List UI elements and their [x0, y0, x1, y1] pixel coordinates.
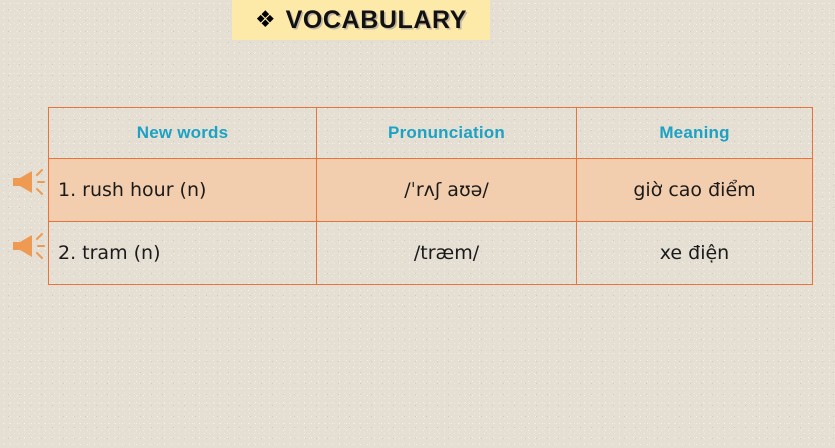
table-row[interactable]: 1. rush hour (n) /ˈrʌʃ aʊə/ giờ cao điểm: [49, 159, 813, 222]
column-header-pronunciation: Pronunciation: [317, 108, 577, 159]
column-header-meaning: Meaning: [577, 108, 813, 159]
cell-new-word: 2. tram (n): [49, 222, 317, 285]
column-header-label: Meaning: [659, 123, 729, 142]
speaker-icon-row-1[interactable]: [10, 167, 48, 197]
speaker-icon-row-2[interactable]: [10, 231, 48, 261]
cell-meaning: xe điện: [577, 222, 813, 285]
vocabulary-table: New words Pronunciation Meaning 1. rush …: [48, 107, 813, 285]
slide-title-banner: ❖ VOCABULARY: [232, 0, 490, 40]
column-header-label: New words: [137, 123, 229, 142]
cell-meaning: giờ cao điểm: [577, 159, 813, 222]
speaker-icon-glyph-1: [10, 167, 48, 197]
cell-pronunciation: /ˈrʌʃ aʊə/: [317, 159, 577, 222]
cell-new-word: 1. rush hour (n): [49, 159, 317, 222]
column-header-label: Pronunciation: [388, 123, 505, 142]
vocabulary-slide: ❖ VOCABULARY New words: [0, 0, 835, 448]
speaker-icon-glyph-2: [10, 231, 48, 261]
column-header-new-words: New words: [49, 108, 317, 159]
table-row[interactable]: 2. tram (n) /træm/ xe điện: [49, 222, 813, 285]
table-header-row: New words Pronunciation Meaning: [49, 108, 813, 159]
page-title: VOCABULARY: [286, 6, 467, 35]
cell-pronunciation: /træm/: [317, 222, 577, 285]
diamond-bullet-icon: ❖: [255, 9, 276, 32]
